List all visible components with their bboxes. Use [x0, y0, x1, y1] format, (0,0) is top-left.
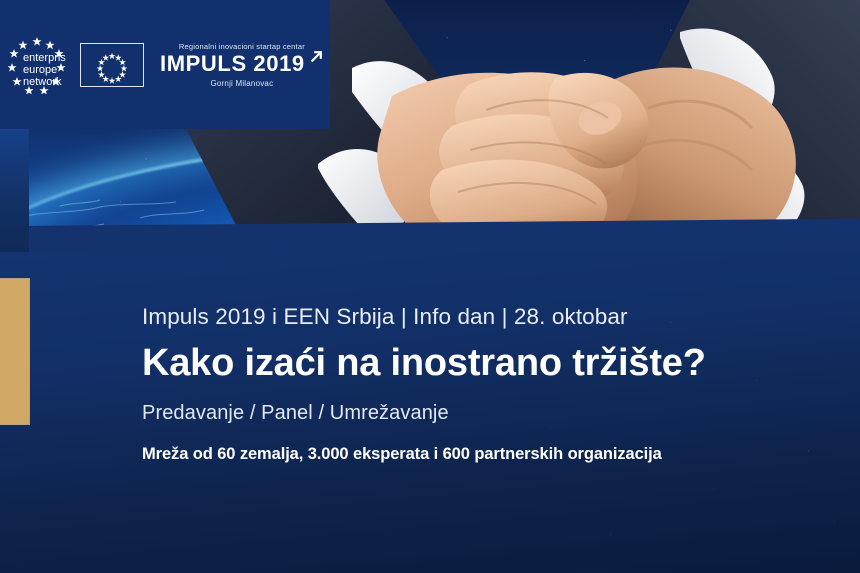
svg-text:network: network: [23, 76, 62, 88]
impuls-title-row: IMPULS 2019: [160, 53, 324, 75]
impuls-title: IMPULS 2019: [160, 53, 305, 75]
event-formats: Predavanje / Panel / Umrežavanje: [142, 402, 842, 425]
event-network-stat: Mreža od 60 zemalja, 3.000 eksperata i 6…: [142, 445, 842, 464]
logo-band: enterprise europe network: [0, 0, 330, 129]
arrow-up-right-icon: [308, 49, 324, 65]
impuls-subtitle: Gornji Milanovac: [160, 79, 324, 88]
gold-accent-bar: [0, 278, 30, 425]
event-headline: Kako izaći na inostrano tržište?: [142, 342, 842, 385]
eu-flag-icon: [80, 43, 144, 87]
left-accent-strip: [0, 128, 29, 252]
impuls-kicker: Regionalni inovacioni startap centar: [160, 42, 324, 51]
svg-text:europe: europe: [23, 64, 57, 76]
svg-text:enterprise: enterprise: [23, 52, 66, 64]
impuls-logo-block: Regionalni inovacioni startap centar IMP…: [160, 42, 324, 88]
event-kicker: Impuls 2019 i EEN Srbija | Info dan | 28…: [142, 303, 842, 330]
event-text-block: Impuls 2019 i EEN Srbija | Info dan | 28…: [142, 303, 842, 464]
enterprise-europe-network-logo: enterprise europe network: [8, 36, 66, 94]
event-poster: enterprise europe network: [0, 0, 860, 573]
